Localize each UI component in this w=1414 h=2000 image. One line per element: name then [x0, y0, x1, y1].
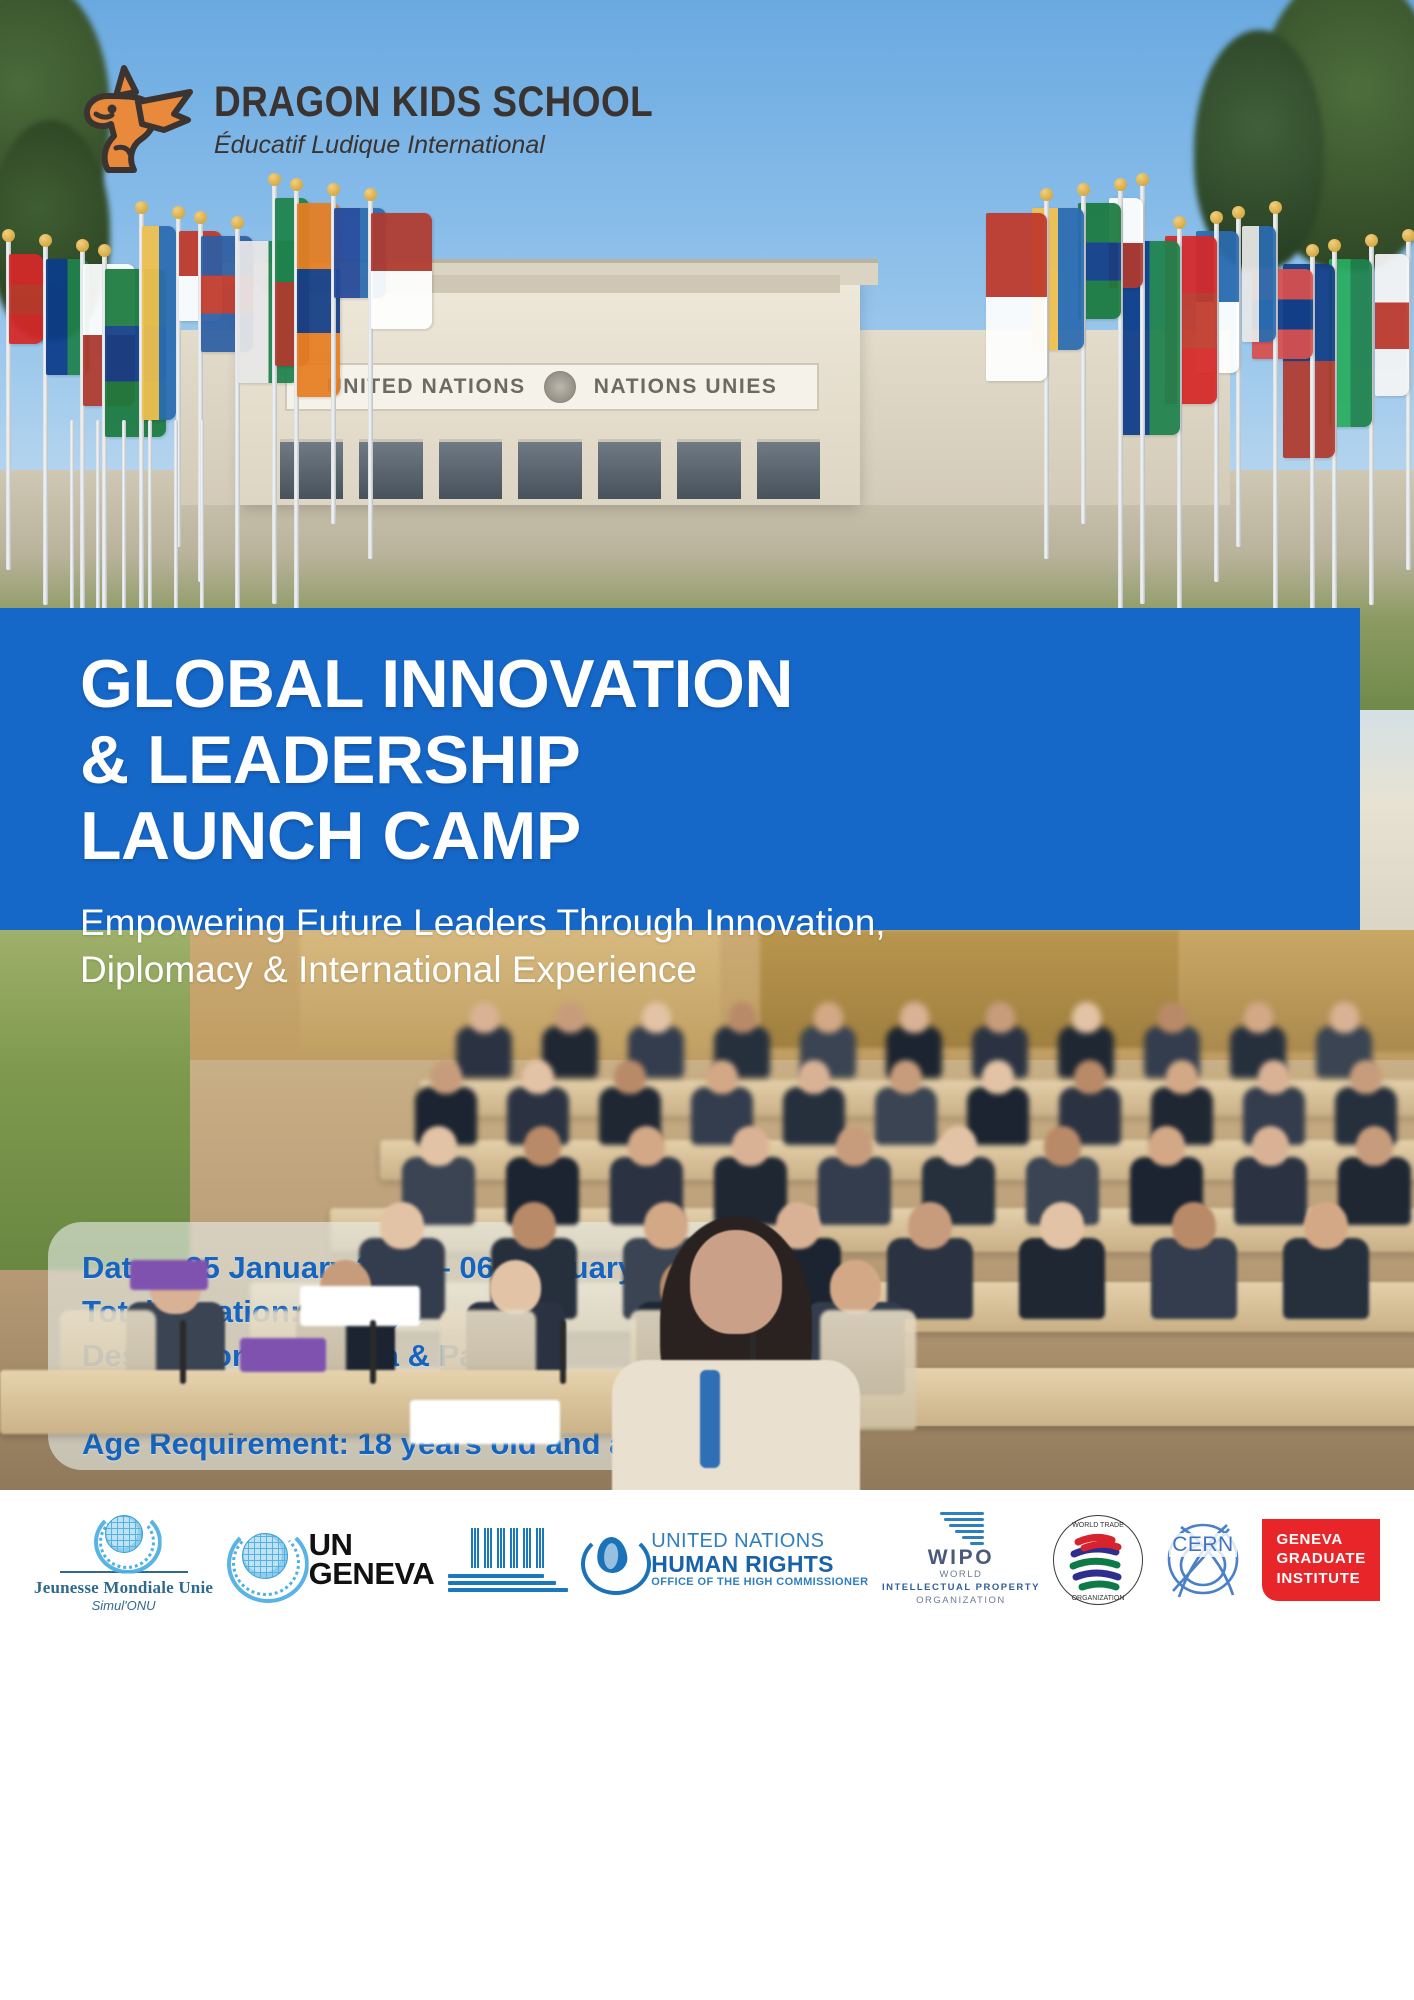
person-head: [1072, 1002, 1101, 1033]
flag-pole-finial: [1077, 183, 1090, 196]
person-head: [524, 1126, 561, 1166]
person-head: [940, 1126, 977, 1166]
person-head: [614, 1060, 646, 1094]
partner-line-2: HUMAN RIGHTS: [651, 1552, 868, 1576]
person-head: [644, 1202, 688, 1249]
person-head: [728, 1002, 757, 1033]
flag-pole-finial: [1306, 244, 1319, 257]
person-head: [430, 1060, 462, 1094]
folder: [130, 1260, 208, 1290]
brand-name: DRAGON KIDS SCHOOL: [214, 81, 653, 124]
paper: [300, 1286, 420, 1326]
person-body: [714, 1157, 787, 1225]
person-head: [642, 1002, 671, 1033]
flag-pole-finial: [98, 244, 111, 257]
flag-pole-finial: [364, 188, 377, 201]
flag-pole-finial: [1114, 178, 1127, 191]
wipo-arc-icon: [938, 1512, 984, 1546]
flag-pole-finial: [1040, 188, 1053, 201]
person-head: [1350, 1060, 1382, 1094]
headline-line-1: GLOBAL INNOVATION: [80, 646, 793, 722]
person-head: [556, 1002, 585, 1033]
partner-line-2: GRADUATE: [1276, 1549, 1365, 1568]
person-head: [1356, 1126, 1393, 1166]
partner-logo-un-human-rights[interactable]: UNITED NATIONS HUMAN RIGHTS OFFICE OF TH…: [581, 1531, 868, 1589]
person-head: [706, 1060, 738, 1094]
flag-pole-finial: [1365, 234, 1378, 247]
national-flag: [1242, 226, 1276, 342]
page-subtitle: Empowering Future Leaders Through Innova…: [80, 900, 1360, 993]
flag-pole-finial: [2, 229, 15, 242]
headline-line-2: & LEADERSHIP: [80, 722, 580, 798]
person-body: [1151, 1238, 1237, 1319]
wto-ring-text-bottom: ORGANIZATION: [1072, 1595, 1125, 1602]
paper: [410, 1400, 560, 1444]
flag-pole-finial: [1402, 229, 1414, 242]
headline-band: GLOBAL INNOVATION & LEADERSHIP LAUNCH CA…: [0, 608, 1360, 930]
person-head: [512, 1202, 556, 1249]
partner-name: WIPO: [928, 1546, 994, 1569]
page-title: GLOBAL INNOVATION & LEADERSHIP LAUNCH CA…: [80, 646, 1360, 874]
flag-pole-finial: [172, 206, 185, 219]
partner-logo-unesco[interactable]: UNESCO: [448, 1528, 568, 1592]
subtitle-line-2: Diplomacy & International Experience: [80, 949, 697, 990]
person-head: [1166, 1060, 1198, 1094]
national-flag: [986, 213, 1047, 381]
person-body: [818, 1157, 891, 1225]
partner-logo-cern[interactable]: CERN: [1157, 1519, 1249, 1601]
flag-pole-finial: [135, 201, 148, 214]
un-laurel-globe-icon: [227, 1523, 301, 1597]
dragon-icon: [78, 62, 196, 177]
cern-accelerator-icon: CERN: [1157, 1519, 1249, 1601]
partner-line-3: OFFICE OF THE HIGH COMMISSIONER: [651, 1576, 868, 1589]
person-head: [982, 1060, 1014, 1094]
partner-line-1: GENEVA: [1276, 1530, 1365, 1549]
partner-logo-geneva-graduate-institute[interactable]: GENEVA GRADUATE INSTITUTE: [1262, 1519, 1379, 1601]
partner-line-1: UNITED NATIONS: [651, 1531, 868, 1552]
person-body: [1283, 1238, 1369, 1319]
person-head: [1304, 1202, 1348, 1249]
partner-logo-wipo[interactable]: WIPO WORLD INTELLECTUAL PROPERTY ORGANIZ…: [882, 1512, 1040, 1608]
foreground-person-blazer: [612, 1360, 860, 1490]
person-body: [1234, 1157, 1307, 1225]
person-head: [1258, 1060, 1290, 1094]
flag-pole-finial: [194, 211, 207, 224]
microphone: [180, 1320, 186, 1384]
flag-pole-finial: [231, 216, 244, 229]
person-head: [1044, 1126, 1081, 1166]
person-body: [1019, 1238, 1105, 1319]
lanyard: [700, 1370, 720, 1468]
brand-tagline: Éducatif Ludique International: [214, 133, 725, 158]
flag-pole-finial: [1136, 173, 1149, 186]
person-body: [1338, 1157, 1411, 1225]
person-head: [1148, 1126, 1185, 1166]
folder: [240, 1338, 326, 1372]
person-head: [1244, 1002, 1273, 1033]
flag-pole-finial: [327, 183, 340, 196]
person-body: [783, 1087, 846, 1146]
brand-logo: DRAGON KIDS SCHOOL Éducatif Ludique Inte…: [78, 62, 725, 177]
flag-pole-finial: [1328, 239, 1341, 252]
flag-pole-finial: [1210, 211, 1223, 224]
microphone: [560, 1320, 566, 1384]
person-head: [908, 1202, 952, 1249]
wto-globe-icon: WORLD TRADE ORGANIZATION: [1053, 1515, 1143, 1605]
partner-sub-1: WORLD: [940, 1569, 983, 1582]
national-flag: [1375, 254, 1409, 396]
person-body: [456, 1026, 512, 1079]
foreground-person-face: [690, 1230, 782, 1334]
person-head: [1172, 1202, 1216, 1249]
partner-line-3: INSTITUTE: [1276, 1569, 1365, 1588]
partner-sub-2: INTELLECTUAL PROPERTY: [882, 1582, 1040, 1593]
flag-pole-finial: [1269, 201, 1282, 214]
partner-name: CERN: [1169, 1533, 1237, 1557]
partner-name: Jeunesse Mondiale Unie: [34, 1578, 213, 1598]
partner-logo-wto[interactable]: WORLD TRADE ORGANIZATION: [1053, 1515, 1143, 1605]
wto-ring-text-top: WORLD TRADE: [1073, 1522, 1125, 1529]
subtitle-line-1: Empowering Future Leaders Through Innova…: [80, 902, 886, 943]
person-head: [798, 1060, 830, 1094]
person-head: [1040, 1202, 1084, 1249]
person-head: [836, 1126, 873, 1166]
person-head: [890, 1060, 922, 1094]
partner-logo-un-geneva[interactable]: UN GENEVA: [227, 1523, 435, 1597]
person-head: [900, 1002, 929, 1033]
partner-logo-jeunesse-mondiale-unie[interactable]: Jeunesse Mondiale Unie Simul'ONU: [34, 1508, 213, 1613]
unesco-temple-icon: [471, 1528, 544, 1568]
flag-pole-finial: [1232, 206, 1245, 219]
ggi-block-icon: GENEVA GRADUATE INSTITUTE: [1262, 1519, 1379, 1601]
person-body: [875, 1087, 938, 1146]
person-head: [470, 1002, 499, 1033]
flag-pole-finial: [290, 178, 303, 191]
flag-pole-finial: [39, 234, 52, 247]
headline-line-3: LAUNCH CAMP: [80, 798, 581, 874]
person-head: [420, 1126, 457, 1166]
person-head: [732, 1126, 769, 1166]
partner-footer: Jeunesse Mondiale Unie Simul'ONU UN GENE…: [0, 1490, 1414, 2000]
person-head: [490, 1260, 541, 1314]
ohchr-flame-icon: [581, 1531, 643, 1589]
person-head: [1330, 1002, 1359, 1033]
flag-pole-finial: [1173, 216, 1186, 229]
person-body: [967, 1087, 1030, 1146]
partner-sub-3: ORGANIZATION: [916, 1595, 1006, 1608]
national-flag: [371, 213, 432, 329]
partner-sub: Simul'ONU: [92, 1598, 156, 1613]
conference-hall-photo: [0, 930, 1414, 1490]
national-flag: [142, 226, 176, 420]
person-head: [380, 1202, 424, 1249]
person-head: [830, 1260, 881, 1314]
person-head: [1252, 1126, 1289, 1166]
microphone: [370, 1320, 376, 1384]
person-head: [986, 1002, 1015, 1033]
poster-root: UNITED NATIONS NATIONS UNIES GLOBAL INNO…: [0, 0, 1414, 2000]
partner-logo-strip: Jeunesse Mondiale Unie Simul'ONU UN GENE…: [0, 1480, 1414, 1640]
un-laurel-globe-icon: [94, 1508, 154, 1568]
national-flag: [9, 254, 43, 344]
person-head: [1074, 1060, 1106, 1094]
person-head: [628, 1126, 665, 1166]
unesco-steps: [448, 1571, 568, 1592]
flag-pole-finial: [76, 239, 89, 252]
partner-line-2: GENEVA: [309, 1560, 435, 1589]
person-head: [1158, 1002, 1187, 1033]
person-head: [522, 1060, 554, 1094]
person-head: [814, 1002, 843, 1033]
